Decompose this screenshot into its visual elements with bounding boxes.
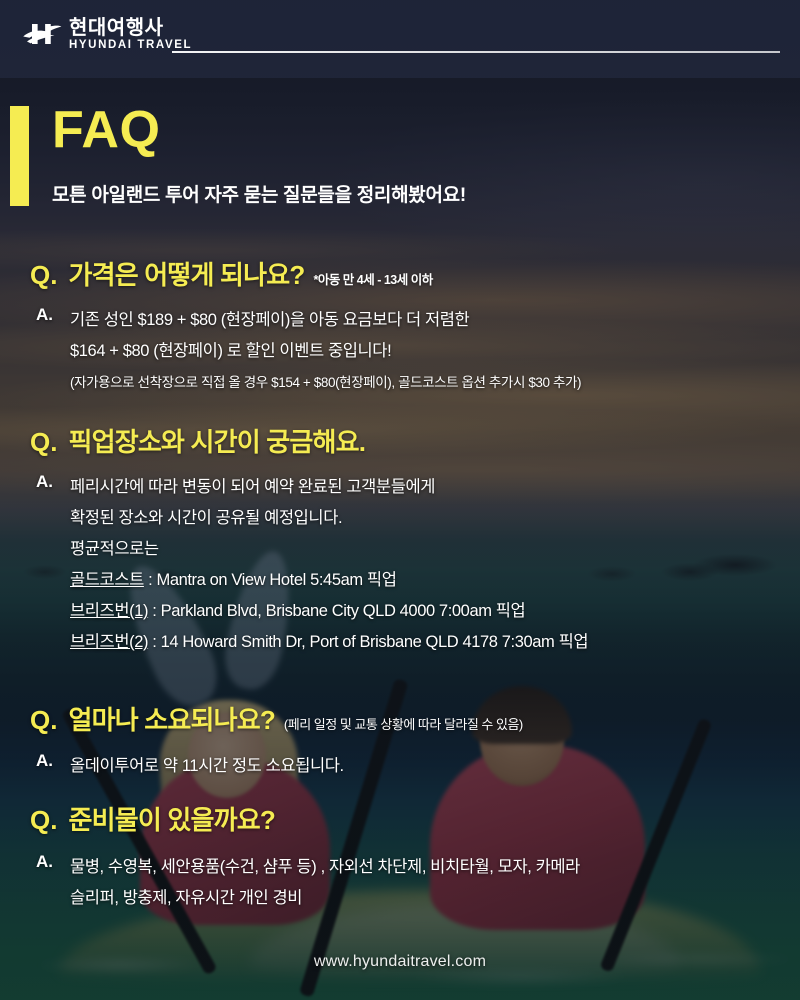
faq-item-3: Q. 얼마나 소요되나요? (페리 일정 및 교통 상황에 따라 달라질 수 있… [0,700,800,782]
pickup-separator: : [148,633,161,651]
question-row-4: Q. 준비물이 있을까요? [0,800,800,837]
faq-item-2: Q. 픽업장소와 시간이 궁금해요. A. 페리시간에 따라 변동이 되어 예약… [0,422,800,658]
answer-line: 슬리퍼, 방충제, 자유시간 개인 경비 [70,883,580,914]
answer-line: $164 + $80 (현장페이) 로 할인 이벤트 중입니다! [70,336,581,367]
question-marker-1: Q. [30,260,57,291]
logo-english-text: HYUNDAI TRAVEL [69,40,192,52]
brand-logo[interactable]: 현대여행사 HYUNDAI TRAVEL [22,17,192,51]
question-row-3: Q. 얼마나 소요되나요? (페리 일정 및 교통 상황에 따라 달라질 수 있… [0,700,800,737]
pickup-row: 브리즈번(1) : Parkland Blvd, Brisbane City Q… [70,596,588,627]
question-text-3: 얼마나 소요되나요? [68,700,274,737]
answer-line: 페리시간에 따라 변동이 되어 예약 완료된 고객분들에게 [70,472,588,503]
answer-marker-2: A. [36,472,70,492]
pickup-separator: : [148,602,161,620]
page-title: FAQ [52,104,160,156]
pickup-row: 골드코스트 : Mantra on View Hotel 5:45am 픽업 [70,565,588,596]
pickup-label: 브리즈번(2) [70,633,148,651]
pickup-row: 브리즈번(2) : 14 Howard Smith Dr, Port of Br… [70,627,588,658]
question-text-4: 준비물이 있을까요? [68,800,274,837]
page-subtitle: 모튼 아일랜드 투어 자주 묻는 질문들을 정리해봤어요! [52,180,466,207]
pickup-label: 골드코스트 [70,571,144,589]
answer-body-2: 페리시간에 따라 변동이 되어 예약 완료된 고객분들에게 확정된 장소와 시간… [70,472,588,658]
question-row-2: Q. 픽업장소와 시간이 궁금해요. [0,422,800,459]
answer-marker-3: A. [36,751,70,771]
pickup-detail: 14 Howard Smith Dr, Port of Brisbane QLD… [161,633,588,651]
site-header: 현대여행사 HYUNDAI TRAVEL [0,0,800,78]
answer-line: 기존 성인 $189 + $80 (현장페이)을 아동 요금보다 더 저렴한 [70,305,581,336]
site-url[interactable]: www.hyundaitravel.com [0,953,800,971]
question-note-1: *아동 만 4세 - 13세 이하 [313,269,432,288]
answer-line: 올데이투어로 약 11시간 정도 소요됩니다. [70,751,344,782]
question-marker-3: Q. [30,705,57,736]
hyundai-h-wing-logo-icon [22,17,62,51]
answer-row-1: A. 기존 성인 $189 + $80 (현장페이)을 아동 요금보다 더 저렴… [0,305,800,396]
question-row-1: Q. 가격은 어떻게 되나요? *아동 만 4세 - 13세 이하 [0,255,800,292]
pickup-detail: Parkland Blvd, Brisbane City QLD 4000 7:… [161,602,526,620]
question-marker-2: Q. [30,427,57,458]
pickup-separator: : [144,571,157,589]
pickup-label: 브리즈번(1) [70,602,148,620]
answer-body-1: 기존 성인 $189 + $80 (현장페이)을 아동 요금보다 더 저렴한 $… [70,305,581,396]
answer-row-3: A. 올데이투어로 약 11시간 정도 소요됩니다. [0,751,800,782]
question-marker-4: Q. [30,805,57,836]
pickup-detail: Mantra on View Hotel 5:45am 픽업 [156,571,396,589]
answer-line: 확정된 장소와 시간이 공유될 예정입니다. [70,503,588,534]
answer-row-2: A. 페리시간에 따라 변동이 되어 예약 완료된 고객분들에게 확정된 장소와… [0,472,800,658]
faq-item-1: Q. 가격은 어떻게 되나요? *아동 만 4세 - 13세 이하 A. 기존 … [0,255,800,396]
question-text-1: 가격은 어떻게 되나요? [68,255,304,292]
header-divider-line [172,51,780,53]
yellow-accent-bar [10,106,29,206]
answer-marker-4: A. [36,852,70,872]
answer-note-1: (자가용으로 선착장으로 직접 올 경우 $154 + $80(현장페이), 골… [70,370,581,396]
answer-marker-1: A. [36,305,70,325]
faq-item-4: Q. 준비물이 있을까요? A. 물병, 수영복, 세안용품(수건, 샴푸 등)… [0,800,800,914]
answer-line: 물병, 수영복, 세안용품(수건, 샴푸 등) , 자외선 차단제, 비치타월,… [70,852,580,883]
question-text-2: 픽업장소와 시간이 궁금해요. [68,422,365,459]
answer-line: 평균적으로는 [70,534,588,565]
faq-poster: 현대여행사 HYUNDAI TRAVEL FAQ 모튼 아일랜드 투어 자주 묻… [0,0,800,1000]
answer-row-4: A. 물병, 수영복, 세안용품(수건, 샴푸 등) , 자외선 차단제, 비치… [0,852,800,914]
question-note-3: (페리 일정 및 교통 상황에 따라 달라질 수 있음) [284,714,523,733]
answer-body-3: 올데이투어로 약 11시간 정도 소요됩니다. [70,751,344,782]
logo-korean-text: 현대여행사 [69,18,192,38]
answer-body-4: 물병, 수영복, 세안용품(수건, 샴푸 등) , 자외선 차단제, 비치타월,… [70,852,580,914]
